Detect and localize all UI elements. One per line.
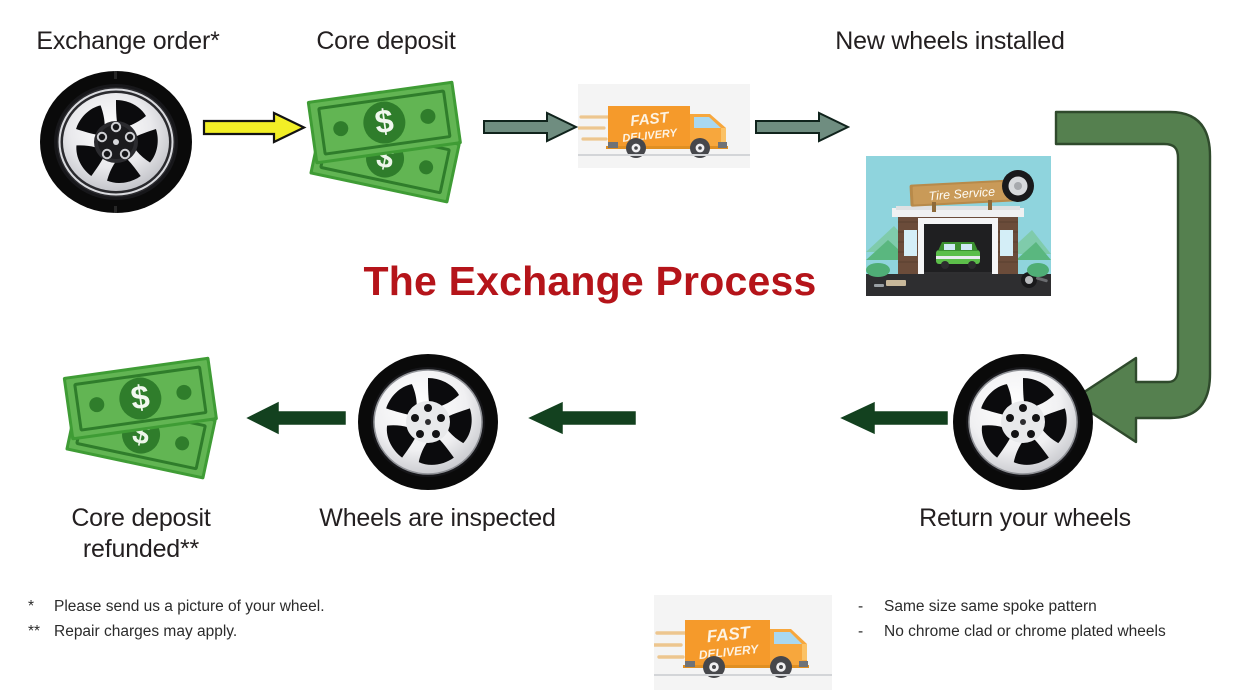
graphic-money-bottom: $ $ — [58, 352, 233, 480]
graphic-wheel-silver-inspected — [356, 352, 500, 492]
label-core-deposit-refunded: Core deposit refunded** — [30, 503, 252, 565]
footnote-right-row: - No chrome clad or chrome plated wheels — [858, 619, 1250, 644]
footnote-text: No chrome clad or chrome plated wheels — [884, 619, 1166, 644]
arrow-yellow-right — [202, 110, 307, 145]
page-title: The Exchange Process — [0, 258, 1180, 305]
exchange-process-diagram: Exchange order* Core deposit New wheels … — [0, 0, 1250, 666]
arrow-dark-green-left-1 — [246, 400, 346, 436]
footnote-text: Same size same spoke pattern — [884, 594, 1097, 619]
arrow-sage-right-2 — [755, 110, 850, 144]
graphic-truck-top: FAST DELIVERY — [578, 84, 750, 168]
label-exchange-order: Exchange order* — [0, 26, 256, 57]
arrow-dark-green-left-2 — [528, 400, 636, 436]
graphic-money-top: $ $ — [302, 76, 477, 204]
footnote-text: Repair charges may apply. — [54, 619, 237, 644]
footnote-right-row: - Same size same spoke pattern — [858, 594, 1250, 619]
footnote-marker: - — [858, 594, 884, 619]
graphic-wheel-black — [36, 70, 196, 215]
arrow-sage-right-1 — [483, 110, 578, 144]
graphic-wheel-silver-return — [951, 352, 1095, 492]
arrow-dark-green-left-3 — [840, 400, 948, 436]
footnote-marker: ** — [28, 619, 54, 644]
graphic-truck-bottom: FAST DELIVERY — [654, 595, 832, 690]
label-return-your-wheels: Return your wheels — [895, 503, 1155, 534]
footnote-left-row: ** Repair charges may apply. — [28, 619, 508, 644]
footnote-text: Please send us a picture of your wheel. — [54, 594, 325, 619]
label-wheels-are-inspected: Wheels are inspected — [300, 503, 575, 534]
label-core-deposit: Core deposit — [280, 26, 492, 57]
footnote-marker: - — [858, 619, 884, 644]
footnotes-right: - Same size same spoke pattern - No chro… — [858, 594, 1250, 644]
label-new-wheels-installed: New wheels installed — [800, 26, 1100, 57]
footnote-left-row: * Please send us a picture of your wheel… — [28, 594, 508, 619]
footnote-marker: * — [28, 594, 54, 619]
footnotes-left: * Please send us a picture of your wheel… — [28, 594, 508, 644]
